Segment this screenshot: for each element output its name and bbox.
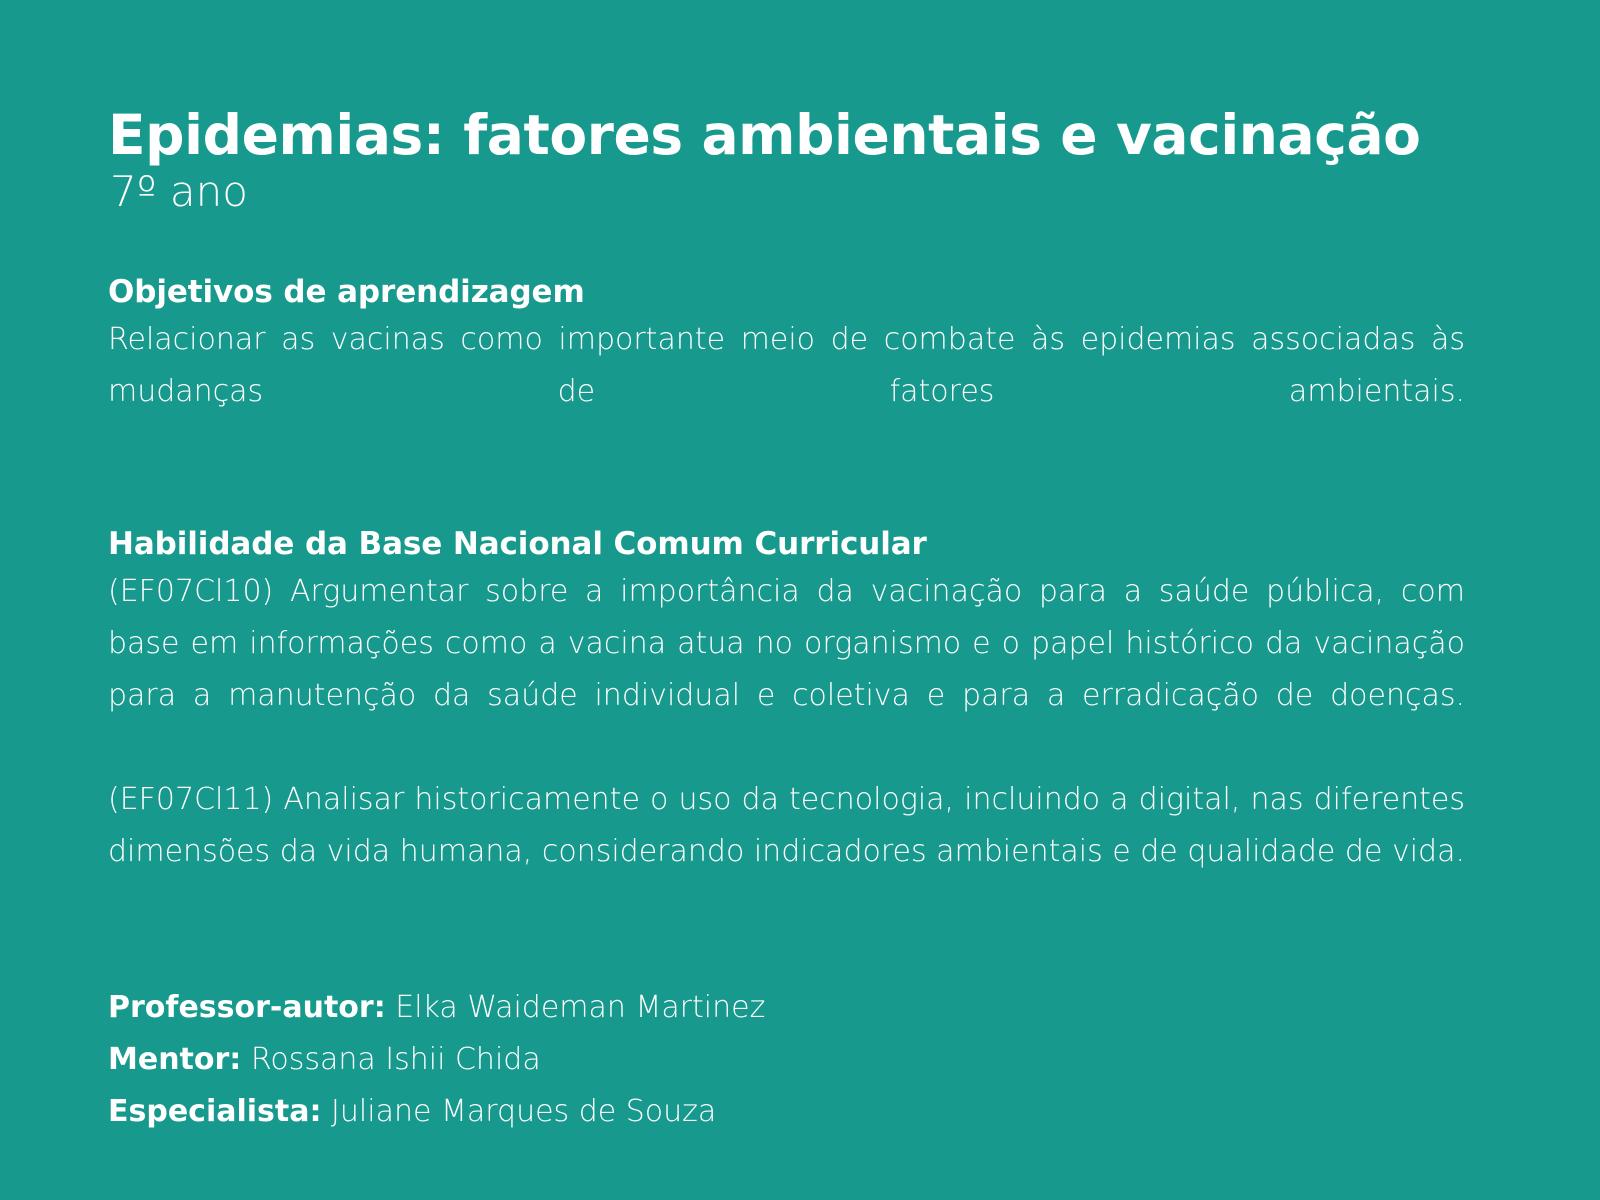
credit-mentor: Mentor: Rossana Ishii Chida (108, 1034, 1465, 1086)
credit-label: Professor-autor: (108, 990, 386, 1025)
credit-professor-autor: Professor-autor: Elka Waideman Martinez (108, 982, 1465, 1034)
credit-value: Elka Waideman Martinez (395, 990, 765, 1025)
page-subtitle: 7º ano (110, 166, 1465, 218)
section-heading-habilidade: Habilidade da Base Nacional Comum Curric… (108, 522, 1465, 566)
page-title: Epidemias: fatores ambientais e vacinaçã… (108, 104, 1465, 166)
slide-content: Epidemias: fatores ambientais e vacinaçã… (108, 104, 1465, 1138)
credit-value: Rossana Ishii Chida (251, 1042, 541, 1077)
credit-label: Especialista: (108, 1094, 322, 1129)
paragraph: Relacionar as vacinas como importante me… (108, 314, 1465, 470)
section-habilidade-bncc: Habilidade da Base Nacional Comum Curric… (108, 522, 1465, 930)
credits-block: Professor-autor: Elka Waideman Martinez … (108, 982, 1465, 1138)
paragraph: (EF07Cl10) Argumentar sobre a importânci… (108, 566, 1465, 774)
section-body-habilidade: (EF07Cl10) Argumentar sobre a importânci… (108, 566, 1465, 930)
credit-label: Mentor: (108, 1042, 241, 1077)
section-heading-objetivos: Objetivos de aprendizagem (108, 270, 1465, 314)
credit-value: Juliane Marques de Souza (331, 1094, 716, 1129)
section-objetivos: Objetivos de aprendizagem Relacionar as … (108, 270, 1465, 470)
credit-especialista: Especialista: Juliane Marques de Souza (108, 1086, 1465, 1138)
slide-canvas: Epidemias: fatores ambientais e vacinaçã… (0, 0, 1600, 1200)
paragraph: (EF07Cl11) Analisar historicamente o uso… (108, 774, 1465, 930)
section-body-objetivos: Relacionar as vacinas como importante me… (108, 314, 1465, 470)
